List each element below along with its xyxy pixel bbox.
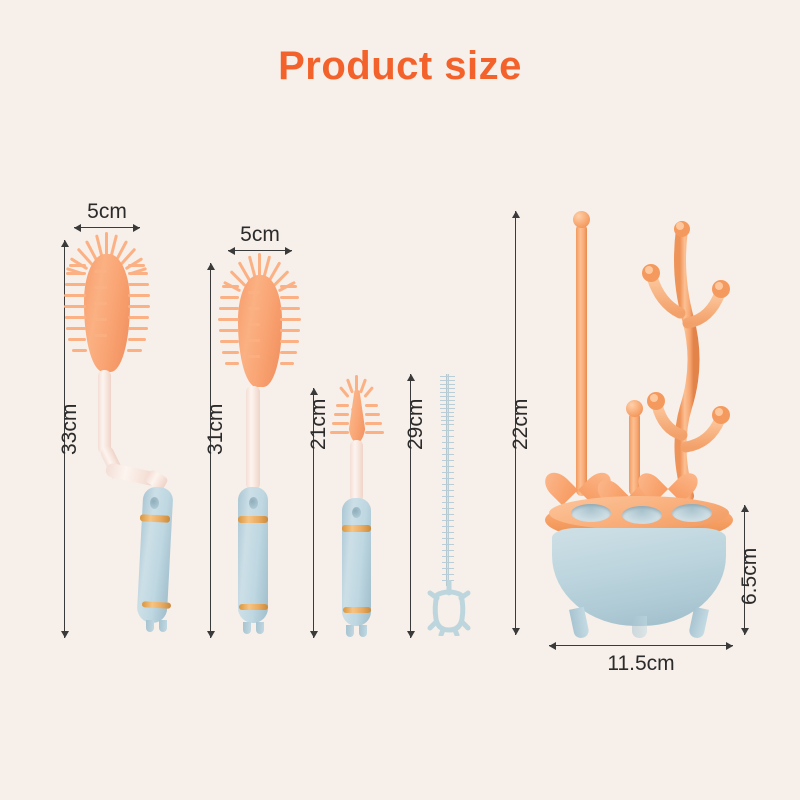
brush2-side-bristles bbox=[226, 257, 294, 391]
dimension-label-brush2-width: 5cm bbox=[228, 223, 292, 247]
rack-bowl-leg-center bbox=[632, 616, 647, 638]
rack-tree-branch-post bbox=[630, 215, 760, 500]
rack-post-tall-ball bbox=[573, 211, 590, 228]
straw-brush-fuzz bbox=[440, 374, 456, 586]
dimension-line-brush2-width bbox=[228, 250, 292, 251]
rack-heart-guard-right bbox=[648, 460, 688, 496]
brush1-hang-hole bbox=[150, 497, 159, 509]
brush2-ring-top bbox=[238, 516, 268, 523]
brush1-side-bristles bbox=[72, 236, 142, 376]
rack-heart-guard-left bbox=[556, 458, 600, 498]
dimension-label-base-width: 11.5cm bbox=[549, 652, 733, 676]
brush1-foot-left bbox=[146, 620, 154, 632]
brush3-foot-left bbox=[346, 625, 354, 637]
brush3-foot-right bbox=[359, 625, 367, 637]
brush2-silicone-head bbox=[226, 257, 294, 391]
brush1-ring-top bbox=[140, 514, 170, 523]
brush2-hang-hole bbox=[249, 497, 258, 509]
brush3-hang-hole bbox=[352, 507, 361, 518]
rack-post-tall bbox=[576, 224, 587, 496]
dimension-label-rack-height: 22cm bbox=[509, 399, 533, 450]
brush1-neck-upper bbox=[98, 370, 111, 454]
product-size-infographic: Product size 5cm 33cm bbox=[0, 0, 800, 800]
straw-brush-loop-handle bbox=[426, 580, 472, 636]
dimension-line-base-width bbox=[549, 645, 733, 646]
brush2-foot-right bbox=[256, 622, 264, 634]
rack-lid-hole-left bbox=[571, 504, 611, 522]
brush3-silicone-head bbox=[334, 382, 380, 446]
brush3-ring-bottom bbox=[343, 607, 371, 613]
brush1-silicone-head bbox=[72, 236, 142, 376]
brush3-neck bbox=[350, 440, 363, 502]
rack-lid-hole-middle bbox=[622, 506, 662, 524]
rack-lid-hole-right bbox=[672, 504, 712, 522]
dimension-label-brush3-height: 21cm bbox=[307, 399, 331, 450]
page-title: Product size bbox=[0, 44, 800, 89]
dimension-line-brush1-width bbox=[74, 227, 140, 228]
brush2-foot-left bbox=[243, 622, 251, 634]
dimension-label-brush1-height: 33cm bbox=[58, 404, 82, 455]
brush3-ring-top bbox=[342, 525, 371, 532]
dimension-label-brush2-height: 31cm bbox=[204, 404, 228, 455]
brush2-neck bbox=[246, 386, 260, 490]
brush1-foot-right bbox=[159, 620, 167, 632]
dimension-label-brush1-width: 5cm bbox=[74, 200, 140, 224]
dimension-label-base-height: 6.5cm bbox=[738, 548, 762, 605]
brush2-ring-bottom bbox=[239, 604, 268, 610]
dimension-label-straw-height: 29cm bbox=[404, 399, 428, 450]
